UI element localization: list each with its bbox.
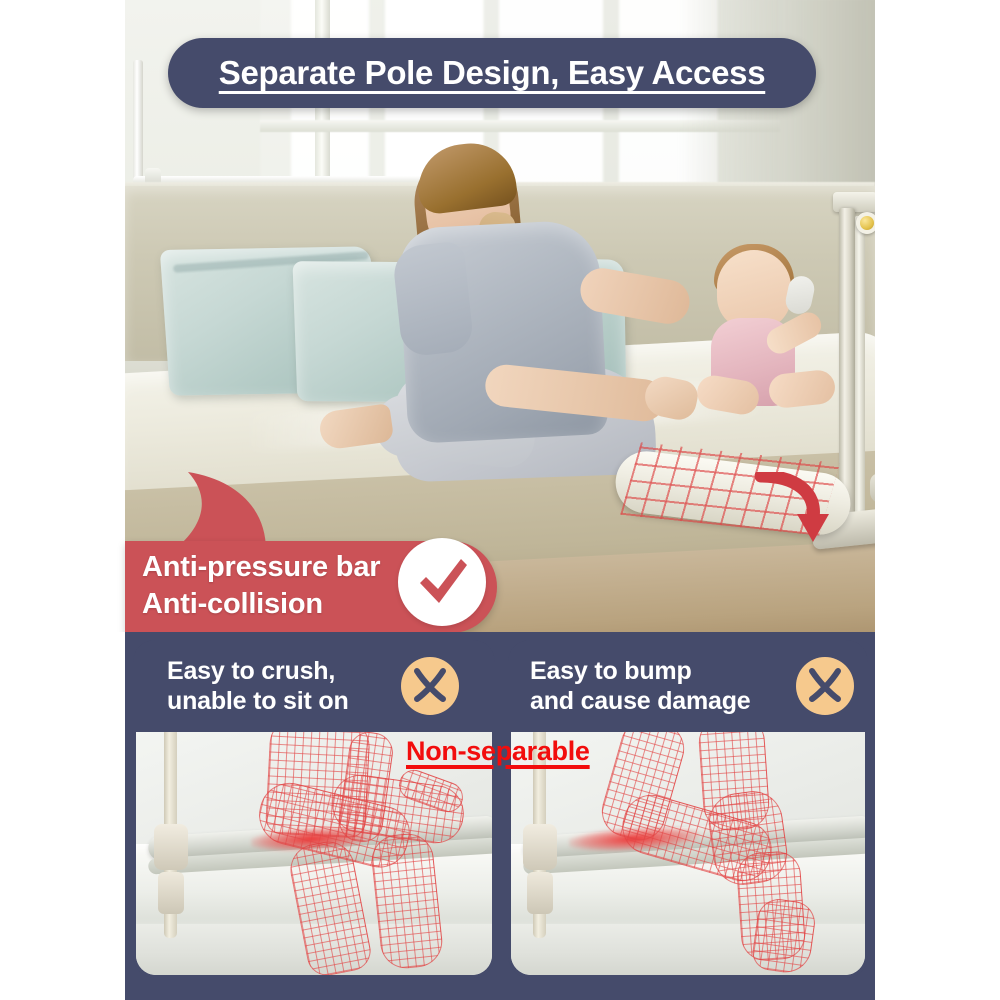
rail-clamp-lower [158, 872, 184, 914]
pole-adjust-knob [856, 212, 875, 234]
check-icon [411, 551, 473, 613]
feature-banner-text: Anti-pressure bar Anti-collision [142, 549, 380, 623]
comparison-panel-left-title: Easy to crush, unable to sit on [133, 656, 349, 717]
non-separable-label: Non-separable [406, 736, 590, 767]
x-badge-right [796, 657, 854, 715]
title-banner: Separate Pole Design, Easy Access [168, 38, 816, 108]
comparison-photo-left [136, 732, 492, 975]
rail-clamp [154, 824, 188, 870]
comparison-panel-right: Easy to bump and cause damage [508, 640, 868, 978]
comparison-panel-right-title: Easy to bump and cause damage [508, 656, 751, 717]
x-icon [805, 666, 845, 706]
x-badge-left [401, 657, 459, 715]
pole-inner-shaft [855, 216, 865, 528]
left-margin [0, 632, 125, 1000]
comparison-photo-right [511, 732, 865, 975]
red-banner-tail [148, 470, 268, 550]
product-image-canvas: Anti-pressure bar Anti-collision Easy to… [0, 0, 1000, 1000]
x-icon [410, 666, 450, 706]
right-margin [875, 632, 1000, 1000]
woman-sleeve [391, 241, 474, 358]
comparison-panel-left: Easy to crush, unable to sit on [133, 640, 495, 978]
title-banner-text: Separate Pole Design, Easy Access [219, 54, 766, 92]
rail-clamp-lower [527, 872, 553, 914]
red-curved-arrow-icon [755, 472, 833, 544]
check-badge [398, 538, 486, 626]
rail-clamp [523, 824, 557, 870]
